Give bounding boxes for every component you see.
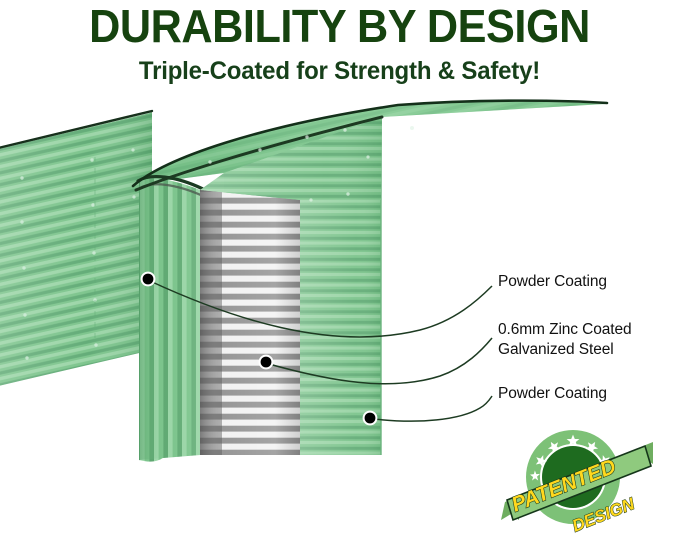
patented-design-badge: PATENTED DESIGN: [497, 424, 657, 534]
callout-powder-coating-inner: Powder Coating: [498, 384, 607, 404]
callout-powder-coating-outer: Powder Coating: [498, 272, 607, 292]
callout-text: 0.6mm Zinc Coated: [498, 321, 632, 338]
callout-galvanized-steel: 0.6mm Zinc Coated Galvanized Steel: [498, 320, 632, 360]
dot-galvanized-steel: [261, 357, 272, 368]
galvanized-steel-core: [200, 190, 300, 455]
callout-text: Powder Coating: [498, 273, 607, 290]
corner-column-outer-coating: [138, 177, 203, 462]
callout-text-line2: Galvanized Steel: [498, 340, 632, 360]
callout-text: Powder Coating: [498, 385, 607, 402]
dot-powder-coating-inner: [365, 413, 376, 424]
left-wall-panel: [0, 111, 152, 387]
poster-canvas: DURABILITY BY DESIGN Triple-Coated for S…: [0, 0, 679, 534]
leader-line-powder-coating-inner: [374, 396, 492, 421]
dot-powder-coating-outer: [143, 274, 154, 285]
